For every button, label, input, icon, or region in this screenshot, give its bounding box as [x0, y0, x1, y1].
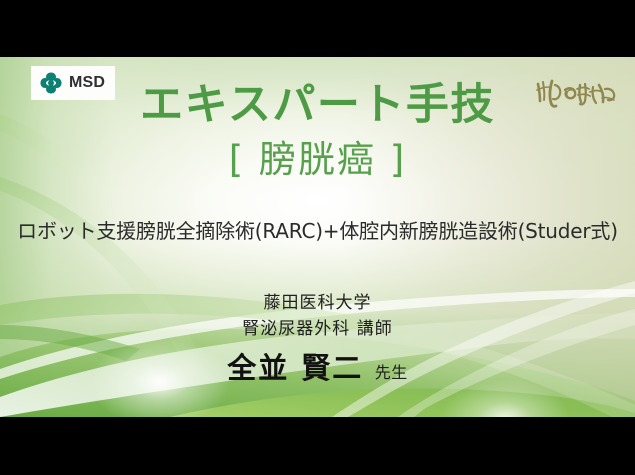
page-subtitle-bracketed: [ 膀胱癌 ]: [0, 141, 635, 180]
affiliation-department: 腎泌尿器外科 講師: [0, 314, 635, 339]
letterbox-bar-bottom: [0, 417, 635, 475]
presenter-block: 全並 賢二 先生: [0, 354, 635, 383]
video-player-viewport: MSD: [0, 0, 635, 475]
page-title: エキスパート手技: [0, 83, 635, 128]
procedure-description: ロボット支援膀胱全摘除術(RARC)+体腔内新膀胱造設術(Studer式): [0, 220, 635, 242]
presenter-name: 全並 賢二: [227, 351, 363, 385]
letterbox-bar-top: [0, 0, 635, 57]
presentation-title-slide: MSD: [0, 57, 635, 417]
presenter-honorific: 先生: [375, 363, 408, 382]
slide-text-layer: エキスパート手技 [ 膀胱癌 ] ロボット支援膀胱全摘除術(RARC)+体腔内新…: [0, 57, 635, 417]
affiliation-institution: 藤田医科大学: [0, 288, 635, 313]
